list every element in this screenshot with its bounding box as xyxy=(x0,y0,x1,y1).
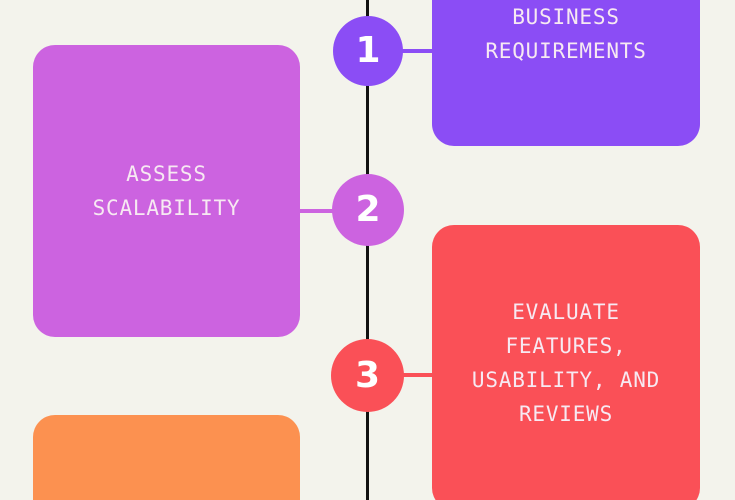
step-marker-2[interactable]: 2 xyxy=(332,174,404,246)
card-orange-next-step[interactable] xyxy=(33,415,300,500)
card-assess-scalability-label: ASSESS SCALABILITY xyxy=(77,157,257,225)
step-marker-1[interactable]: 1 xyxy=(333,16,403,86)
card-evaluate-features[interactable]: EVALUATE FEATURES, USABILITY, AND REVIEW… xyxy=(432,225,700,500)
step-marker-3[interactable]: 3 xyxy=(331,339,404,412)
card-business-requirements[interactable]: BUSINESS REQUIREMENTS xyxy=(432,0,700,146)
infographic-canvas: BUSINESS REQUIREMENTS ASSESS SCALABILITY… xyxy=(0,0,735,500)
step-marker-1-number: 1 xyxy=(355,33,380,69)
card-evaluate-features-label: EVALUATE FEATURES, USABILITY, AND REVIEW… xyxy=(456,295,676,431)
step-marker-3-number: 3 xyxy=(355,358,380,394)
card-assess-scalability[interactable]: ASSESS SCALABILITY xyxy=(33,45,300,337)
step-marker-2-number: 2 xyxy=(355,192,380,228)
card-business-requirements-label: BUSINESS REQUIREMENTS xyxy=(469,0,662,68)
